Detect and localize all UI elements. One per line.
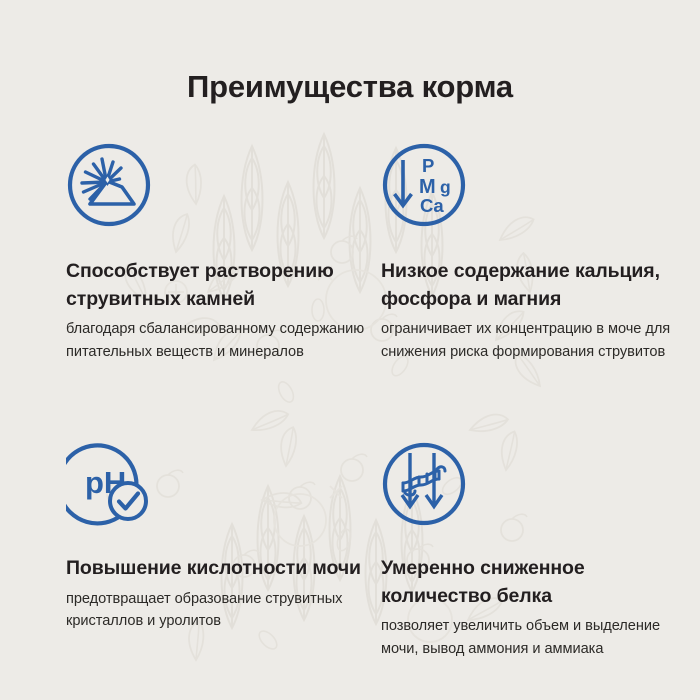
low-minerals-p-mg-ca-icon: P M g Ca <box>381 142 467 228</box>
reduced-protein-dna-arrows-icon <box>381 441 467 527</box>
icon-label-p: P <box>422 155 434 176</box>
benefit-body: ограничивает их концентрацию в моче для … <box>381 313 681 362</box>
benefit-card-low-minerals: P M g Ca Низкое содержание кальция, фосф… <box>381 142 681 363</box>
benefit-heading: Повышение кислотности мочи <box>66 527 366 583</box>
page-title: Преимущества корма <box>0 69 700 105</box>
benefit-heading: Способствует растворению струвитных камн… <box>66 228 366 313</box>
benefit-body: предотвращает образование струвитных кри… <box>66 583 366 632</box>
benefit-card-urine-ph: pH Повышение кислотности мочи предотвращ… <box>66 441 366 632</box>
infographic-page: Преимущества корма Способствует растворе… <box>0 0 700 700</box>
benefit-card-dissolving-stones: Способствует растворению струвитных камн… <box>66 142 366 363</box>
benefit-body: благодаря сбалансированному содержанию п… <box>66 313 366 362</box>
ph-check-icon: pH <box>66 441 152 527</box>
icon-label-ca: Ca <box>420 195 444 216</box>
benefit-heading: Низкое содержание кальция, фосфора и маг… <box>381 228 681 313</box>
benefit-card-reduced-protein: Умеренно сниженное количество белка позв… <box>381 441 681 660</box>
benefit-heading: Умеренно сниженное количество белка <box>381 527 681 610</box>
benefit-body: позволяет увеличить объем и выделение мо… <box>381 610 681 659</box>
dissolving-struvite-stone-icon <box>66 142 152 228</box>
icon-label-g: g <box>440 177 451 197</box>
